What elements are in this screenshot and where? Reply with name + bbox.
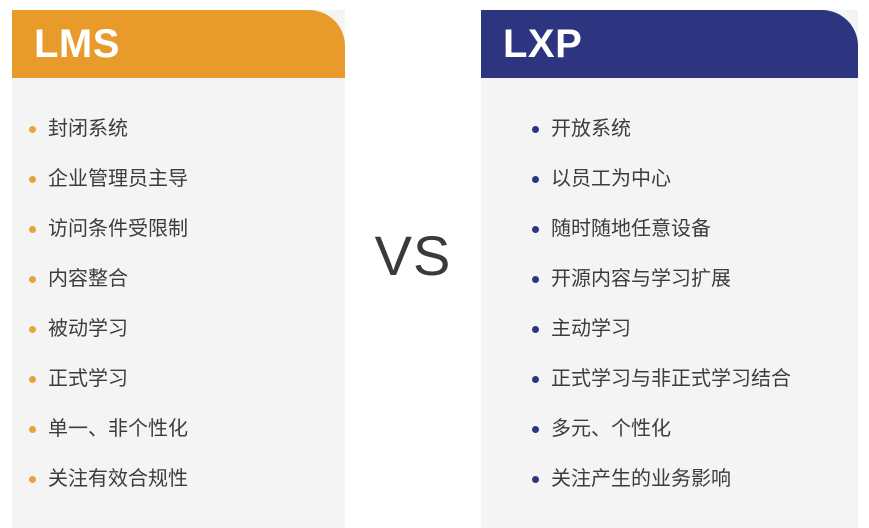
card-header-lms: LMS: [12, 10, 345, 78]
feature-list-lxp: 开放系统 以员工为中心 随时随地任意设备 开源内容与学习扩展 主动学习 正式学习…: [481, 78, 858, 504]
list-item: 单一、非个性化: [12, 404, 345, 454]
vs-divider-label: VS: [345, 226, 481, 286]
list-item: 随时随地任意设备: [481, 204, 858, 254]
list-item: 以员工为中心: [481, 154, 858, 204]
list-item-label: 开放系统: [551, 104, 631, 154]
list-item: 访问条件受限制: [12, 204, 345, 254]
bullet-dot-icon: [29, 376, 36, 383]
bullet-dot-icon: [532, 276, 539, 283]
list-item-label: 企业管理员主导: [48, 154, 188, 204]
list-item: 被动学习: [12, 304, 345, 354]
list-item-label: 开源内容与学习扩展: [551, 254, 731, 304]
list-item-label: 关注产生的业务影响: [551, 454, 731, 504]
list-item: 正式学习: [12, 354, 345, 404]
list-item-label: 访问条件受限制: [48, 204, 188, 254]
list-item-label: 多元、个性化: [551, 404, 671, 454]
bullet-dot-icon: [29, 276, 36, 283]
list-item: 多元、个性化: [481, 404, 858, 454]
list-item: 封闭系统: [12, 104, 345, 154]
list-item: 主动学习: [481, 304, 858, 354]
bullet-dot-icon: [532, 476, 539, 483]
bullet-dot-icon: [29, 476, 36, 483]
bullet-dot-icon: [29, 326, 36, 333]
bullet-dot-icon: [29, 226, 36, 233]
list-item-label: 内容整合: [48, 254, 128, 304]
bullet-dot-icon: [532, 376, 539, 383]
list-item: 内容整合: [12, 254, 345, 304]
list-item: 开放系统: [481, 104, 858, 154]
bullet-dot-icon: [532, 226, 539, 233]
bullet-dot-icon: [29, 126, 36, 133]
list-item-label: 以员工为中心: [551, 154, 671, 204]
card-header-lxp: LXP: [481, 10, 858, 78]
list-item-label: 正式学习与非正式学习结合: [551, 354, 791, 404]
list-item: 开源内容与学习扩展: [481, 254, 858, 304]
list-item-label: 关注有效合规性: [48, 454, 188, 504]
comparison-infographic: LMS 封闭系统 企业管理员主导 访问条件受限制 内容整合 被动学习: [0, 0, 869, 528]
bullet-dot-icon: [29, 176, 36, 183]
bullet-dot-icon: [532, 326, 539, 333]
list-item-label: 随时随地任意设备: [551, 204, 711, 254]
list-item-label: 单一、非个性化: [48, 404, 188, 454]
list-item: 企业管理员主导: [12, 154, 345, 204]
bullet-dot-icon: [532, 176, 539, 183]
card-title-lxp: LXP: [503, 18, 582, 70]
bullet-dot-icon: [532, 126, 539, 133]
list-item: 关注产生的业务影响: [481, 454, 858, 504]
list-item-label: 主动学习: [551, 304, 631, 354]
bullet-dot-icon: [532, 426, 539, 433]
bullet-dot-icon: [29, 426, 36, 433]
list-item: 关注有效合规性: [12, 454, 345, 504]
feature-list-lms: 封闭系统 企业管理员主导 访问条件受限制 内容整合 被动学习 正式学习: [12, 78, 345, 504]
list-item: 正式学习与非正式学习结合: [481, 354, 858, 404]
list-item-label: 封闭系统: [48, 104, 128, 154]
card-title-lms: LMS: [34, 18, 120, 70]
list-item-label: 被动学习: [48, 304, 128, 354]
list-item-label: 正式学习: [48, 354, 128, 404]
